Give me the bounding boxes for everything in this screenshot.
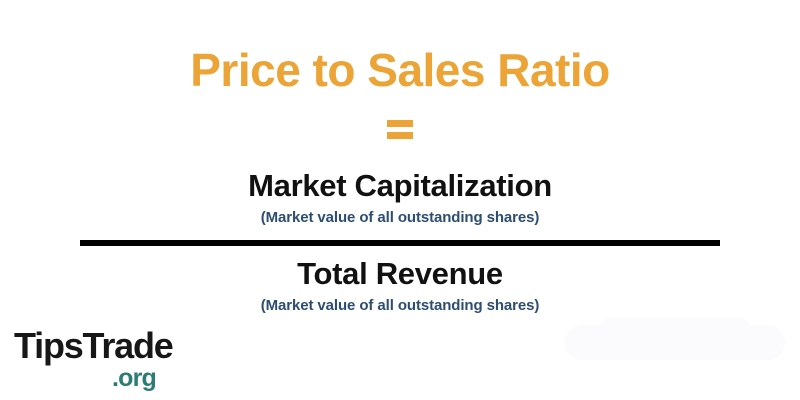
equals-sign-bar-bottom xyxy=(387,132,413,139)
fraction-numerator: Market Capitalization (Market value of a… xyxy=(0,168,800,227)
equals-sign-label: = xyxy=(400,129,401,130)
numerator-note: (Market value of all outstanding shares) xyxy=(0,208,800,228)
background-watermark-shape xyxy=(565,325,785,360)
logo-wordmark: TipsTrade xyxy=(14,328,214,364)
page-title: Price to Sales Ratio xyxy=(0,45,800,96)
fraction-divider-line xyxy=(80,240,720,246)
numerator-label: Market Capitalization xyxy=(0,168,800,204)
site-logo[interactable]: TipsTrade .org xyxy=(14,328,214,388)
price-to-sales-ratio-infographic: Price to Sales Ratio = Market Capitaliza… xyxy=(0,0,800,400)
background-watermark-shape-secondary xyxy=(600,318,750,338)
denominator-note: (Market value of all outstanding shares) xyxy=(0,296,800,316)
denominator-label: Total Revenue xyxy=(0,256,800,292)
equals-sign-bar-top xyxy=(387,120,413,127)
formula-fraction: Market Capitalization (Market value of a… xyxy=(0,168,800,315)
fraction-denominator: Total Revenue (Market value of all outst… xyxy=(0,256,800,315)
logo-tld: .org xyxy=(112,366,214,391)
equals-sign-icon: = xyxy=(0,120,800,139)
